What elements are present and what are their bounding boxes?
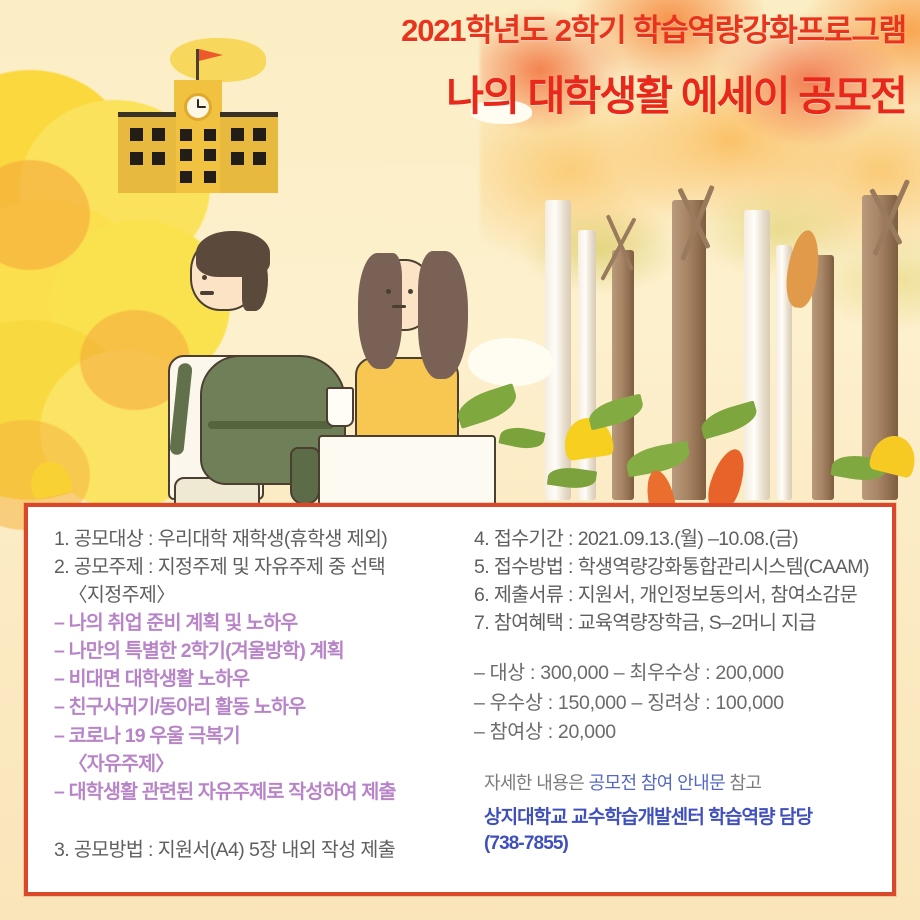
prize-row-2: – 우수상 : 150,000 – 징려상 : 100,000 <box>474 689 876 718</box>
school-wing-left <box>118 115 176 193</box>
guideline-note: 자세한 내용은 공모전 참여 안내문 참고 <box>474 769 876 795</box>
topic-2: – 나만의 특별한 2학기(겨울방학) 계획 <box>54 637 466 665</box>
topic-5: – 코로나 19 우울 극복기 <box>54 722 466 750</box>
poster-root: 2021학년도 2학기 학습역량강화프로그램 나의 대학생활 에세이 공모전 1… <box>0 0 920 920</box>
clock-icon <box>184 93 212 121</box>
info-right-column: 4. 접수기간 : 2021.09.13.(월) –10.08.(금) 5. 접… <box>466 525 876 882</box>
info-left-column: 1. 공모대상 : 우리대학 재학생(휴학생 제외) 2. 공모주제 : 지정주… <box>46 525 466 882</box>
school-wing-right <box>220 115 278 193</box>
info-item-6: 6. 제출서류 : 지원서, 개인정보동의서, 참여소감문 <box>474 581 876 609</box>
contact-department: 상지대학교 교수학습개발센터 학습역량 담당 <box>474 805 876 831</box>
topic-3: – 비대면 대학생활 노하우 <box>54 665 466 693</box>
note-prefix: 자세한 내용은 <box>484 773 589 793</box>
note-highlight[interactable]: 공모전 참여 안내문 <box>589 773 725 793</box>
info-item-1: 1. 공모대상 : 우리대학 재학생(휴학생 제외) <box>54 525 466 553</box>
poster-title: 나의 대학생활 에세이 공모전 <box>401 74 906 119</box>
topic-1: – 나의 취업 준비 계획 및 노하우 <box>54 609 466 637</box>
topic-free: – 대학생활 관련된 자유주제로 작성하여 제출 <box>54 778 466 806</box>
note-suffix: 참고 <box>725 773 761 793</box>
info-item-4: 4. 접수기간 : 2021.09.13.(월) –10.08.(금) <box>474 525 876 553</box>
program-line: 2021학년도 2학기 학습역량강화프로그램 <box>401 14 906 48</box>
info-box: 1. 공모대상 : 우리대학 재학생(휴학생 제외) 2. 공모주제 : 지정주… <box>24 503 896 896</box>
info-item-3: 3. 공모방법 : 지원서(A4) 5장 내외 작성 제출 <box>54 836 466 864</box>
contact-phone: (738-7855) <box>474 831 876 857</box>
topic-4: – 친구사귀기/동아리 활동 노하우 <box>54 693 466 721</box>
header-titles: 2021학년도 2학기 학습역량강화프로그램 나의 대학생활 에세이 공모전 <box>401 14 906 119</box>
prize-row-1: – 대상 : 300,000 – 최우수상 : 200,000 <box>474 659 876 688</box>
drink-cup <box>326 387 354 427</box>
subhead-free-topic: 〈자유주제〉 <box>54 750 466 778</box>
school-building-icon <box>118 78 278 193</box>
subhead-designated-topic: 〈지정주제〉 <box>54 581 466 609</box>
prize-row-3: – 참여상 : 20,000 <box>474 718 876 747</box>
info-item-7: 7. 참여혜택 : 교육역량장학금, S–2머니 지급 <box>474 609 876 637</box>
red-flag-icon <box>199 49 223 61</box>
students-illustration <box>150 235 510 510</box>
info-item-2: 2. 공모주제 : 지정주제 및 자유주제 중 선택 <box>54 553 466 581</box>
info-item-5: 5. 접수방법 : 학생역량강화통합관리시스템(CAAM) <box>474 553 876 581</box>
